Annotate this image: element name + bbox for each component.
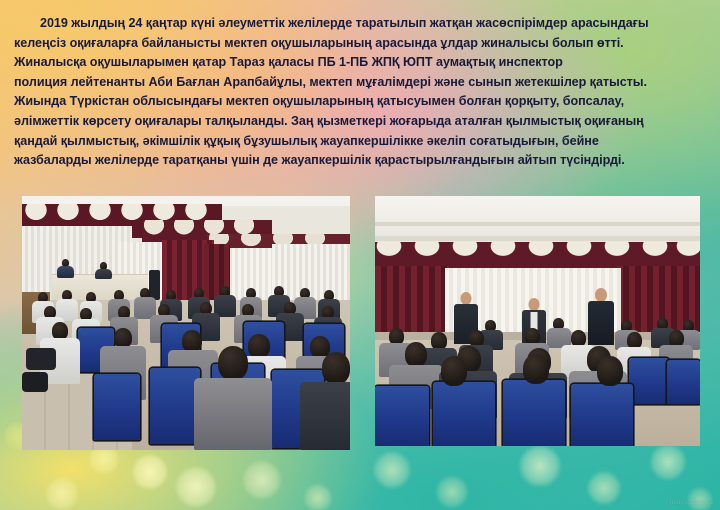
speaker-right-officer <box>587 288 615 344</box>
watermark-text: mektep.edu.kz <box>670 500 714 506</box>
body-text-line-2: келеңсіз оқиғаларға байланысты мектеп оқ… <box>14 34 706 54</box>
body-text-line-3: Жиналысқа оқушыларымен қатар Тараз қалас… <box>14 53 706 73</box>
slide-body-text: 2019 жылдың 24 қаңтар күні әлеуметтік же… <box>14 14 706 171</box>
body-text-line-5: Жиында Түркістан облысындағы мектеп оқуш… <box>14 92 706 112</box>
body-text-line-6: әлімжеттік көрсету оқиғалары талқыланды.… <box>14 112 706 132</box>
photo-assembly-audience <box>22 196 350 450</box>
presentation-slide: 2019 жылдың 24 қаңтар күні әлеуметтік же… <box>0 0 720 510</box>
photo-assembly-speakers <box>375 196 700 446</box>
body-text-line-1: 2019 жылдың 24 қаңтар күні әлеуметтік же… <box>14 14 706 34</box>
photo-left-scene <box>22 196 350 450</box>
body-text-line-7: қандай қылмыстық, әкімшілік құқық бұзушы… <box>14 132 706 152</box>
body-text-line-8: жазбаларды желілерде таратқаны үшін де ж… <box>14 151 706 171</box>
body-text-line-4: полиция лейтенанты Аби Бағлан Арапбайұлы… <box>14 73 706 93</box>
photo-right-scene <box>375 196 700 446</box>
